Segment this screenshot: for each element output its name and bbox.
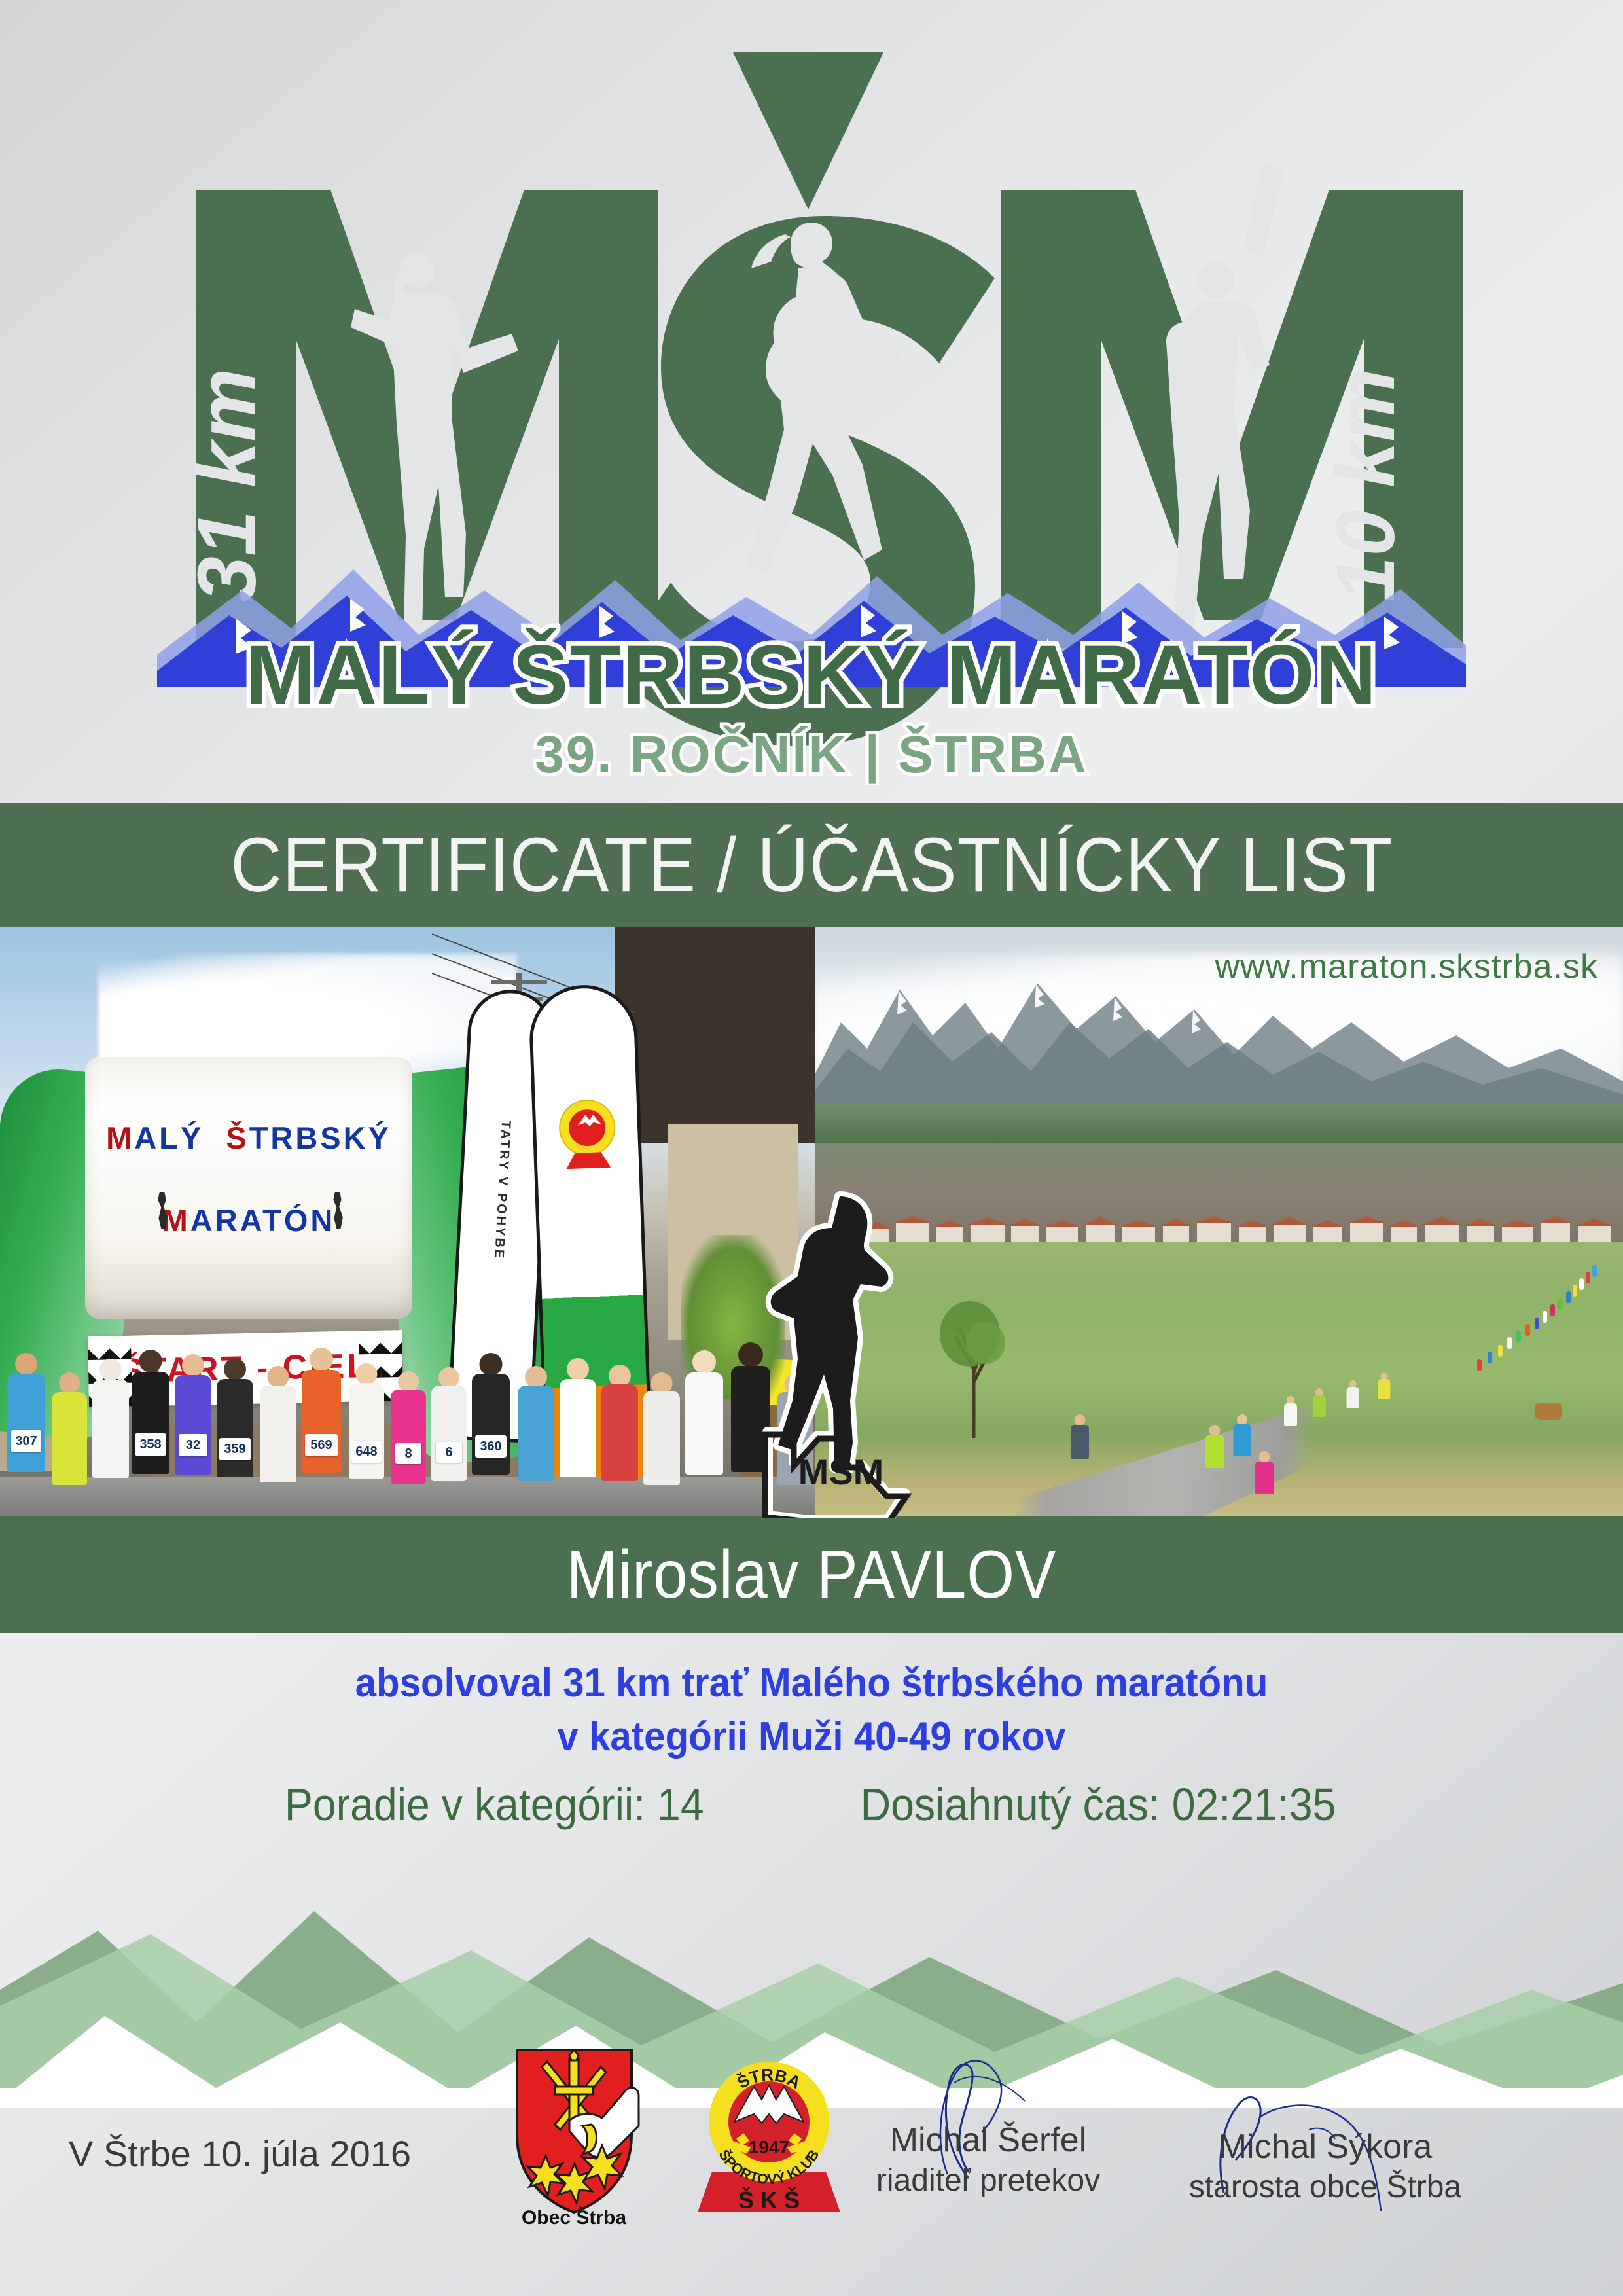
certificate-title-banner: CERTIFICATE / ÚČASTNÍCKY LIST	[0, 803, 1623, 927]
club-crest-initials: Š K Š	[738, 2186, 800, 2214]
runner: 8	[390, 1365, 427, 1516]
logo-distance-left: 31 km	[181, 368, 273, 602]
runner-mid	[1346, 1380, 1359, 1417]
rank-label: Poradie v kategórii:	[285, 1779, 645, 1830]
runner-far	[1586, 1272, 1590, 1283]
runner: 6	[431, 1362, 467, 1516]
msm-logo: 31 km 10 km MALÝ ŠTRBSKÝ MARATÓN 39. ROČ…	[157, 26, 1466, 785]
logo-distance-right: 10 km	[1319, 368, 1412, 602]
runner	[601, 1359, 639, 1516]
runner: 307	[7, 1353, 46, 1516]
runner: 358	[131, 1350, 170, 1516]
runner-far	[1525, 1324, 1530, 1336]
rank-value: 14	[657, 1779, 704, 1830]
crest-municipality-label: Obec Štrba	[522, 2206, 626, 2227]
runner	[559, 1355, 597, 1516]
roof-shingle	[615, 927, 815, 1143]
results-row: Poradie v kategórii: 14 Dosiahnutý čas: …	[0, 1778, 1623, 1831]
sks-club-crest-icon: ŠTRBA ŠPORTOVÝ KLUB 1947 Š K Š	[694, 2043, 844, 2233]
runner-far	[1488, 1352, 1492, 1363]
runner-near	[1232, 1414, 1251, 1475]
achievement-line2: v kategórii Muži 40-49 rokov	[48, 1710, 1574, 1764]
achievement-text: absolvoval 31 km trať Malého štrbského m…	[48, 1657, 1574, 1764]
runner-far	[1566, 1291, 1571, 1303]
arch-banner: MALÝ ŠTRBSKÝ MARATÓN	[85, 1057, 412, 1319]
roadside-tree	[936, 1297, 1014, 1438]
house	[1350, 1222, 1383, 1244]
signature-director: Michal Šerfel riaditeľ pretekov	[851, 2121, 1126, 2198]
sks-badge-icon	[553, 1095, 621, 1169]
runner-far	[1558, 1298, 1563, 1310]
runner: 359	[216, 1355, 254, 1516]
certificate-body: absolvoval 31 km trať Malého štrbského m…	[0, 1633, 1623, 1895]
runner-mid	[1378, 1372, 1391, 1408]
obec-strba-crest-icon: Obec Štrba	[504, 2043, 645, 2227]
runner-far	[1573, 1285, 1577, 1297]
runner: 648	[348, 1359, 385, 1516]
achievement-line1: absolvoval 31 km trať Malého štrbského m…	[48, 1657, 1574, 1710]
rank-cell: Poradie v kategórii: 14	[285, 1778, 704, 1831]
runner-crowd: 307 358 32	[0, 1300, 815, 1516]
issue-date: V Štrbe 10. júla 2016	[69, 2132, 411, 2175]
runner-mid	[1312, 1388, 1326, 1426]
runner-far	[1579, 1278, 1584, 1290]
runner-far	[1543, 1311, 1547, 1323]
runner: 569	[301, 1348, 342, 1516]
runner-far	[1535, 1318, 1539, 1329]
signature-name: Michal Sýkora	[1178, 2127, 1472, 2166]
runner: 360	[471, 1352, 510, 1516]
club-crest-year: 1947	[749, 2137, 789, 2157]
runner-far	[1507, 1337, 1512, 1349]
runner-far	[1516, 1331, 1521, 1342]
svg-text:31 km: 31 km	[181, 368, 273, 602]
signature-role: riaditeľ pretekov	[851, 2162, 1126, 2198]
runner	[685, 1350, 724, 1516]
stencil-label: MŠM	[798, 1451, 884, 1492]
runner	[517, 1361, 555, 1516]
participant-name-banner: Miroslav PAVLOV	[0, 1516, 1623, 1633]
house	[1197, 1222, 1231, 1244]
signature-mayor: Michal Sýkora starosta obce Štrba	[1178, 2127, 1472, 2205]
runner-far	[1498, 1345, 1503, 1357]
runner	[92, 1356, 130, 1516]
participant-name: Miroslav PAVLOV	[567, 1536, 1057, 1614]
flag-text: TATRY V POHYBE	[491, 1120, 513, 1260]
time-cell: Dosiahnutý čas: 02:21:35	[861, 1778, 1336, 1831]
arch-line1: MALÝ ŠTRBSKÝ	[85, 1120, 412, 1156]
runner-far	[1592, 1265, 1597, 1277]
runner-near	[1255, 1451, 1274, 1514]
runner	[643, 1365, 681, 1516]
event-subtitle: 39. ROČNÍK | ŠTRBA	[535, 725, 1088, 784]
arch-line2: MARATÓN	[85, 1202, 412, 1238]
runner-mid	[1283, 1396, 1297, 1435]
runner-far	[1477, 1359, 1482, 1371]
runner-near	[1205, 1425, 1224, 1488]
svg-text:10 km: 10 km	[1319, 368, 1412, 602]
certificate-title-text: CERTIFICATE / ÚČASTNÍCKY LIST	[230, 821, 1393, 910]
certificate-page: 31 km 10 km MALÝ ŠTRBSKÝ MARATÓN 39. ROČ…	[0, 0, 1623, 2296]
event-logo-block: 31 km 10 km MALÝ ŠTRBSKÝ MARATÓN 39. ROČ…	[0, 0, 1623, 795]
house	[1541, 1222, 1570, 1244]
runner	[51, 1366, 88, 1516]
signature-name: Michal Šerfel	[851, 2121, 1126, 2160]
website-url: www.maraton.skstrba.sk	[1215, 947, 1599, 986]
photo-race-start: MALÝ ŠTRBSKÝ MARATÓN ŠTART - CIEĽ TATRY …	[0, 927, 815, 1516]
runner-far	[1550, 1304, 1555, 1316]
time-label: Dosiahnutý čas:	[861, 1779, 1160, 1830]
signature-role: starosta obce Štrba	[1178, 2169, 1472, 2205]
cow	[1535, 1403, 1562, 1420]
runner: 32	[174, 1353, 212, 1516]
msm-runner-stencil: MŠM	[743, 1178, 939, 1518]
time-value: 02:21:35	[1172, 1779, 1336, 1830]
spectator	[1070, 1414, 1090, 1480]
event-title: MALÝ ŠTRBSKÝ MARATÓN	[245, 628, 1378, 722]
logo-caron	[733, 52, 883, 209]
runner	[259, 1361, 297, 1516]
